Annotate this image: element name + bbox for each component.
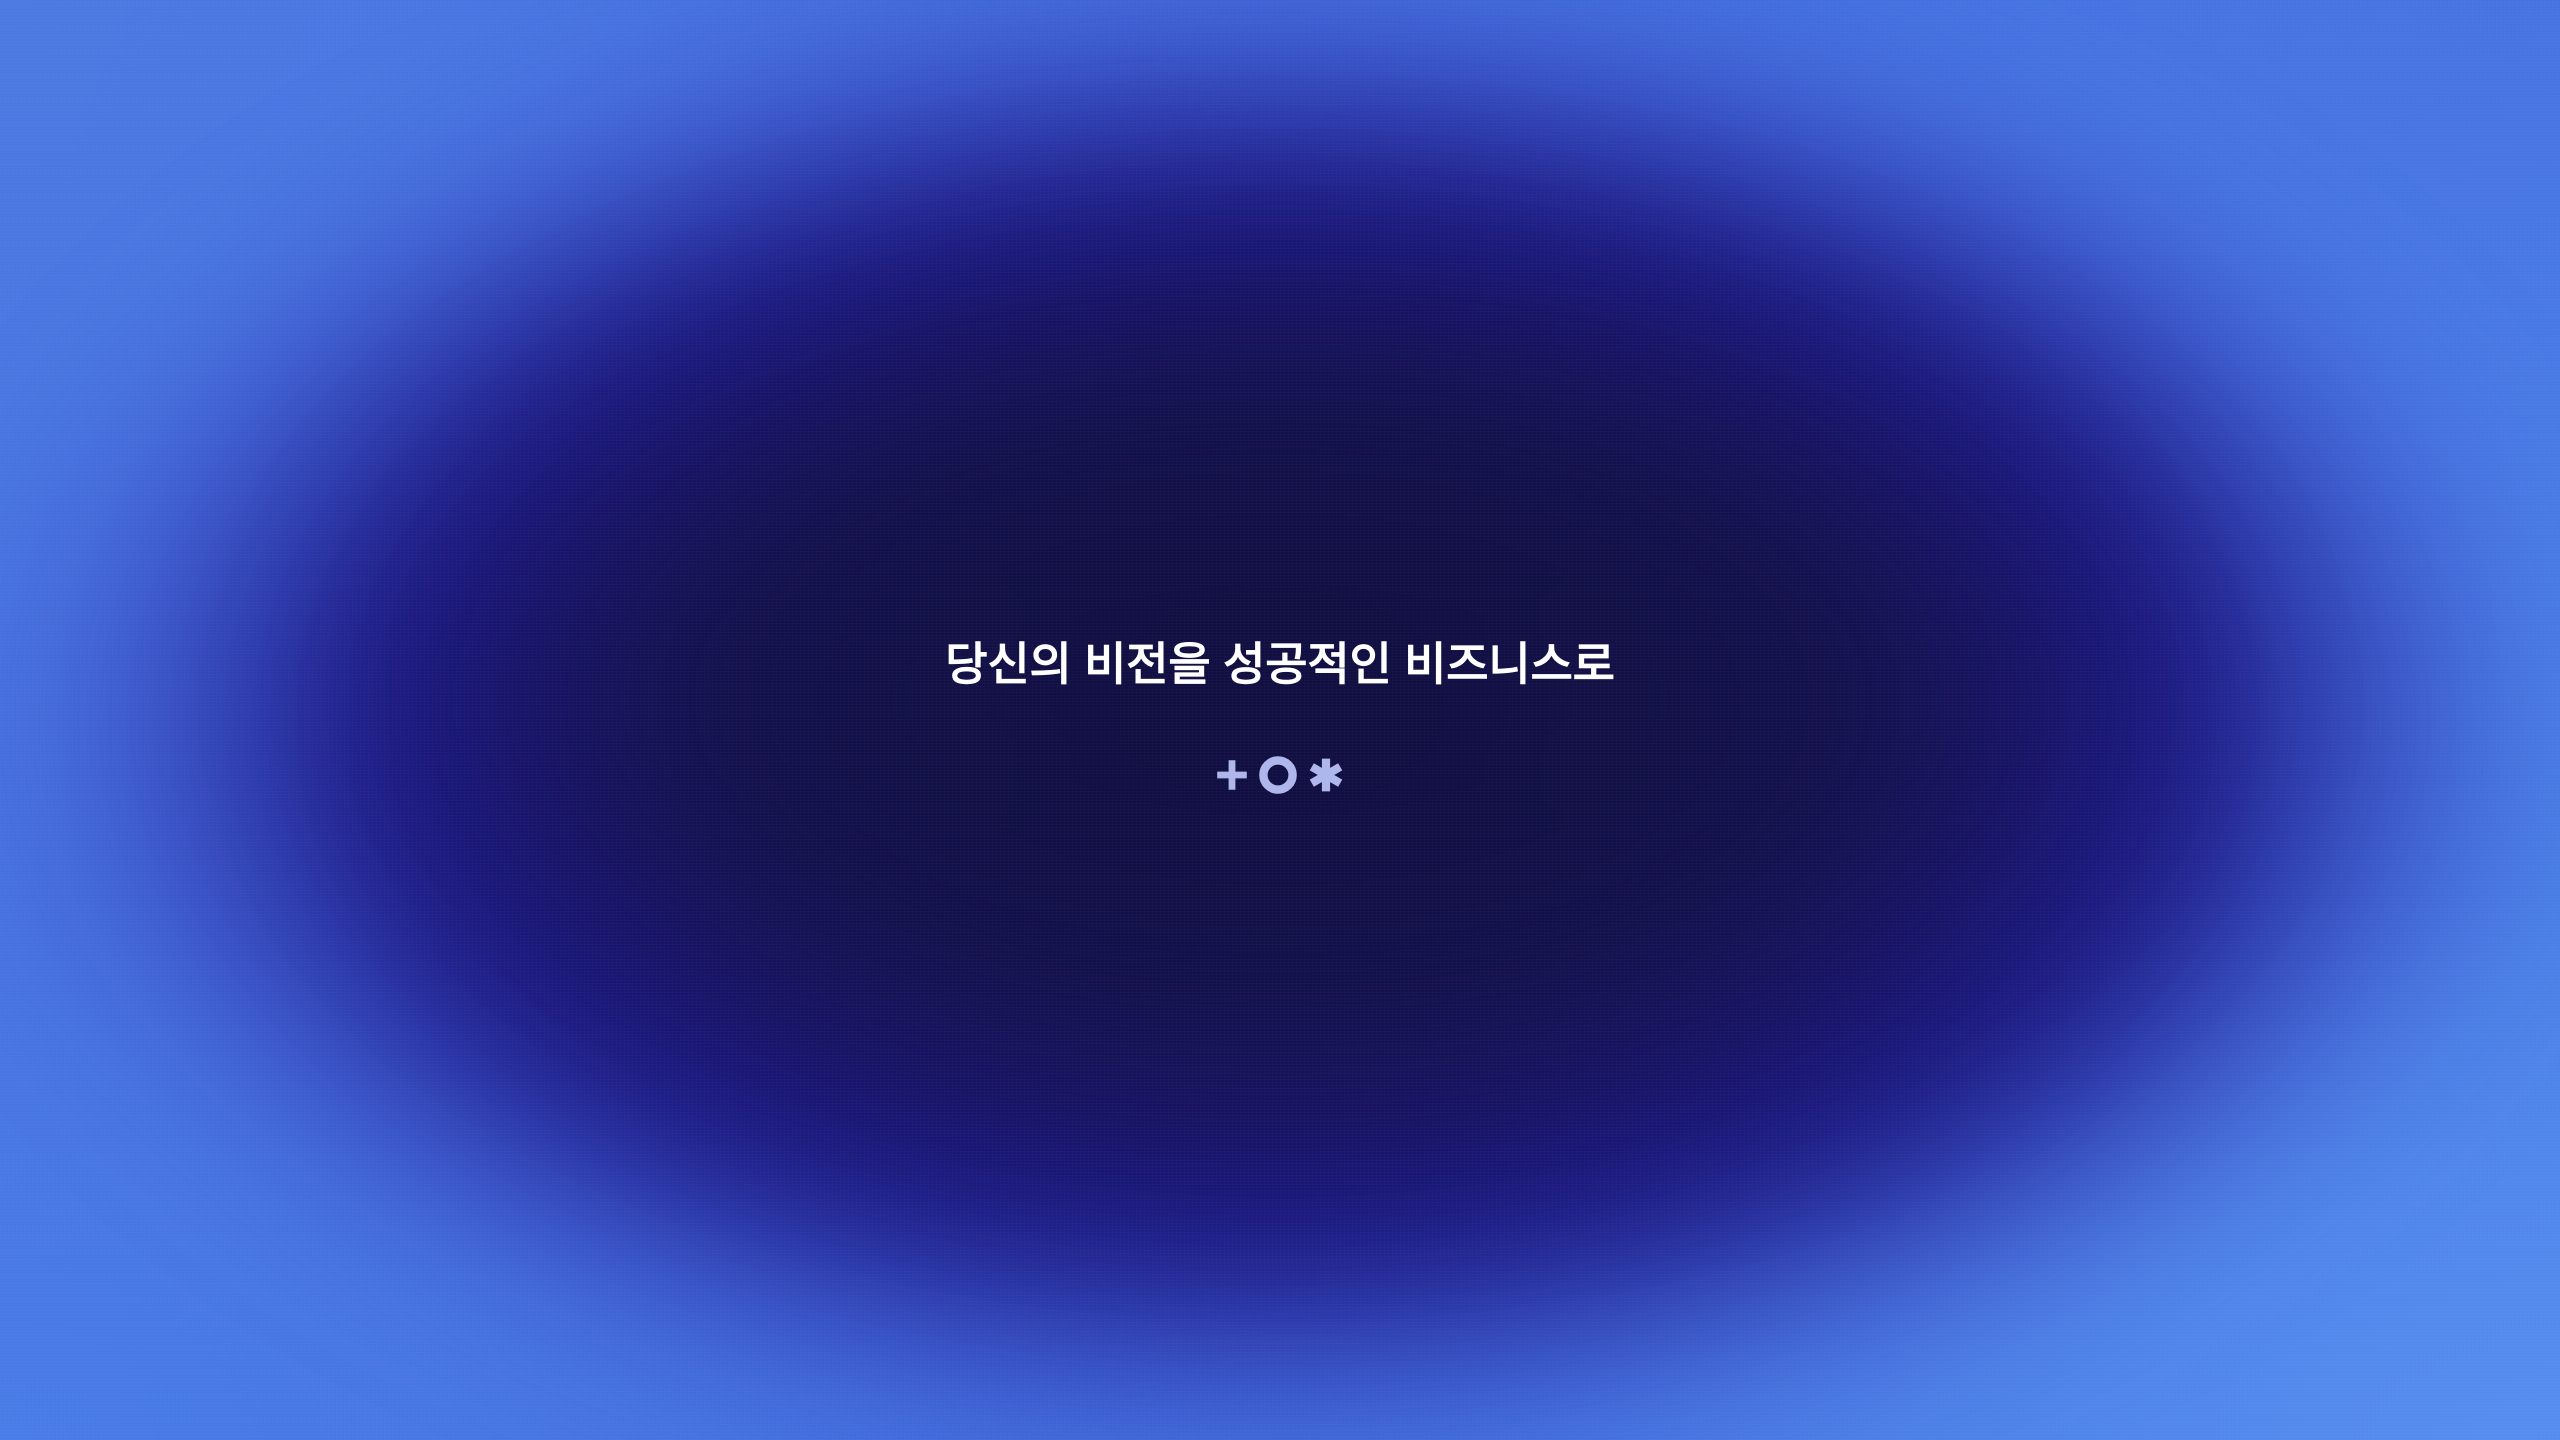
asterisk-icon — [1307, 756, 1345, 794]
ring-icon — [1259, 756, 1297, 794]
page-title: 당신의 비전을 성공적인 비즈니스로 — [945, 637, 1615, 691]
plus-icon — [1215, 758, 1249, 792]
decorative-glyph-row — [1215, 756, 1345, 794]
hero-section: 당신의 비전을 성공적인 비즈니스로 — [0, 0, 2560, 1440]
hero-content: 당신의 비전을 성공적인 비즈니스로 — [0, 0, 2560, 1440]
